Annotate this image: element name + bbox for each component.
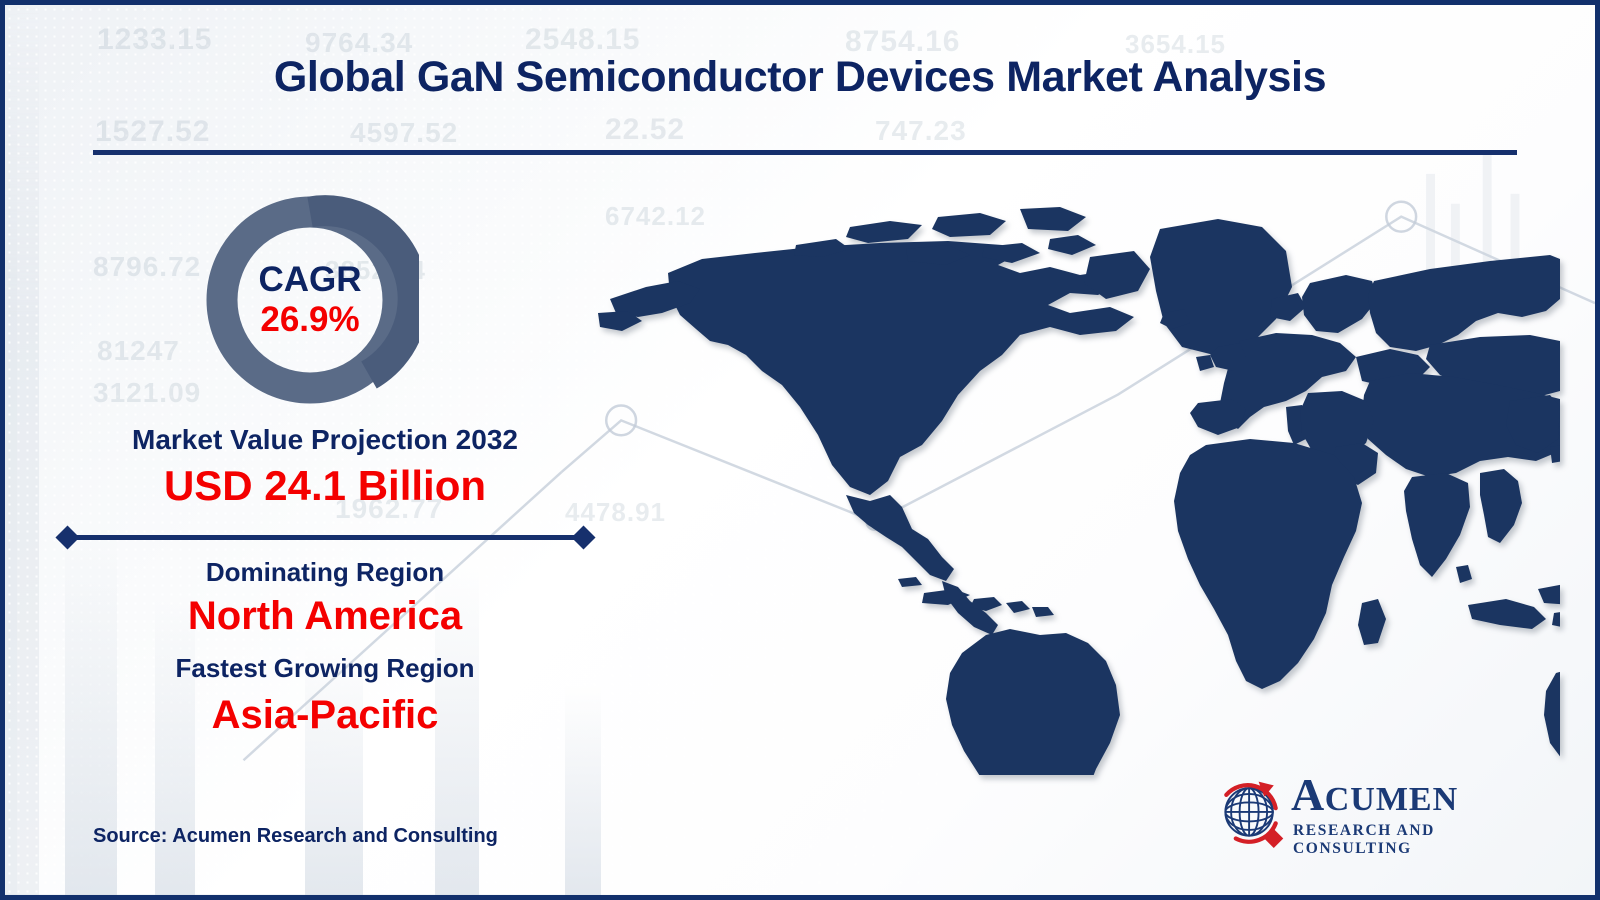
title-underline-rule [93,150,1517,155]
fastest-region-label: Fastest Growing Region [5,653,645,684]
world-map [550,195,1560,775]
infographic-canvas: 1233.159764.342548.158754.163654.151527.… [0,0,1600,900]
cagr-label: CAGR [258,262,361,298]
market-value-amount: USD 24.1 Billion [5,462,645,510]
diamond-accent-icon [1264,829,1283,848]
world-map-svg [550,195,1560,775]
cagr-donut-chart: CAGR 26.9% [201,191,419,409]
map-landmasses [598,207,1560,775]
fastest-region-value: Asia-Pacific [5,693,645,738]
page-title: Global GaN Semiconductor Devices Market … [5,53,1595,102]
acumen-logo: ACUMEN RESEARCH AND CONSULTING [1213,770,1513,850]
logo-tagline: RESEARCH AND CONSULTING [1293,822,1513,858]
market-value-label: Market Value Projection 2032 [5,424,645,456]
cagr-value: 26.9% [260,302,359,338]
donut-center-labels: CAGR 26.9% [201,191,419,409]
logo-wordmark: ACUMEN [1291,772,1458,818]
dominating-region-label: Dominating Region [5,557,645,588]
dominating-region-value: North America [5,594,645,639]
section-divider [67,535,583,540]
source-attribution: Source: Acumen Research and Consulting [93,825,498,848]
globe-icon [1213,774,1289,848]
